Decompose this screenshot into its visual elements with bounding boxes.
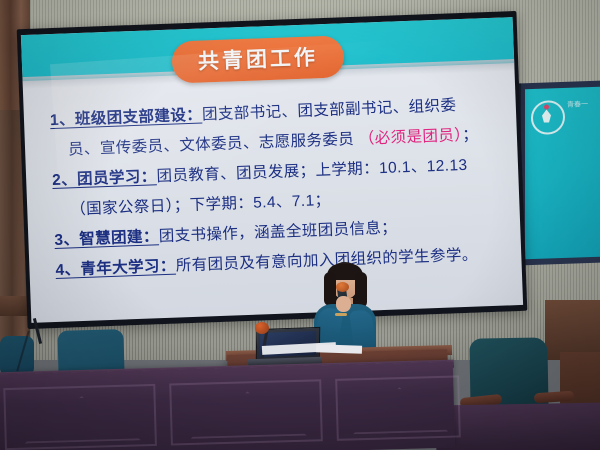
slide-line-text: 团支书操作，涵盖全班团员信息； bbox=[158, 219, 397, 245]
projection-screen: 共青团工作 1、班级团支部建设：团支部书记、团支部副书记、组织委 员、宣传委员、… bbox=[17, 11, 528, 329]
presenter-hand bbox=[336, 296, 351, 312]
stage-desk bbox=[0, 362, 455, 450]
youth-league-emblem-icon bbox=[531, 100, 565, 135]
screenshot-root: 青春一 共青团工作 1、班级团支部建设：团支部书记、团支部副书记、组织委 员、宣… bbox=[0, 0, 600, 450]
slide-line-highlight: （必须是团员） bbox=[359, 127, 463, 148]
slide-line-heading: 2、团员学习： bbox=[52, 168, 157, 189]
slide-line-text: 团员教育、团员发展；上学期：10.1、12.13 bbox=[156, 157, 467, 185]
desk-panel bbox=[169, 379, 323, 445]
desk-panel bbox=[3, 384, 157, 450]
slide-title: 共青团工作 bbox=[171, 35, 344, 83]
presenter-hair-left bbox=[324, 272, 336, 306]
slide-line-text: 团支部书记、团支部副书记、组织委 bbox=[202, 97, 457, 123]
slide-line-text: 员、宣传委员、文体委员、志愿服务委员 bbox=[68, 131, 359, 159]
slide-line-text: （国家公祭日）；下学期：5.4、7.1； bbox=[70, 192, 331, 219]
desk-panel bbox=[335, 375, 461, 440]
microphone-head-icon bbox=[336, 282, 349, 292]
desk-microphone-head-icon bbox=[255, 322, 269, 334]
papers-secondary bbox=[316, 344, 362, 354]
presenter-bracelet bbox=[335, 313, 347, 316]
side-display-screen[interactable]: 青春一 bbox=[525, 87, 600, 260]
slide-line-heading: 3、智慧团建： bbox=[54, 228, 159, 249]
slide-line-text: ； bbox=[462, 126, 479, 144]
slide-line-heading: 1、班级团支部建设： bbox=[50, 107, 203, 130]
slide-body: 1、班级团支部建设：团支部书记、团支部副书记、组织委 员、宣传委员、文体委员、志… bbox=[50, 90, 506, 286]
side-display-caption: 青春一 bbox=[567, 100, 588, 110]
slide-line-heading: 4、青年大学习： bbox=[55, 258, 176, 279]
wood-trim-right bbox=[545, 300, 600, 360]
presenter-hair-right bbox=[355, 272, 367, 308]
slide-surface: 共青团工作 1、班级团支部建设：团支部书记、团支部副书记、组织委 员、宣传委员、… bbox=[21, 17, 523, 323]
